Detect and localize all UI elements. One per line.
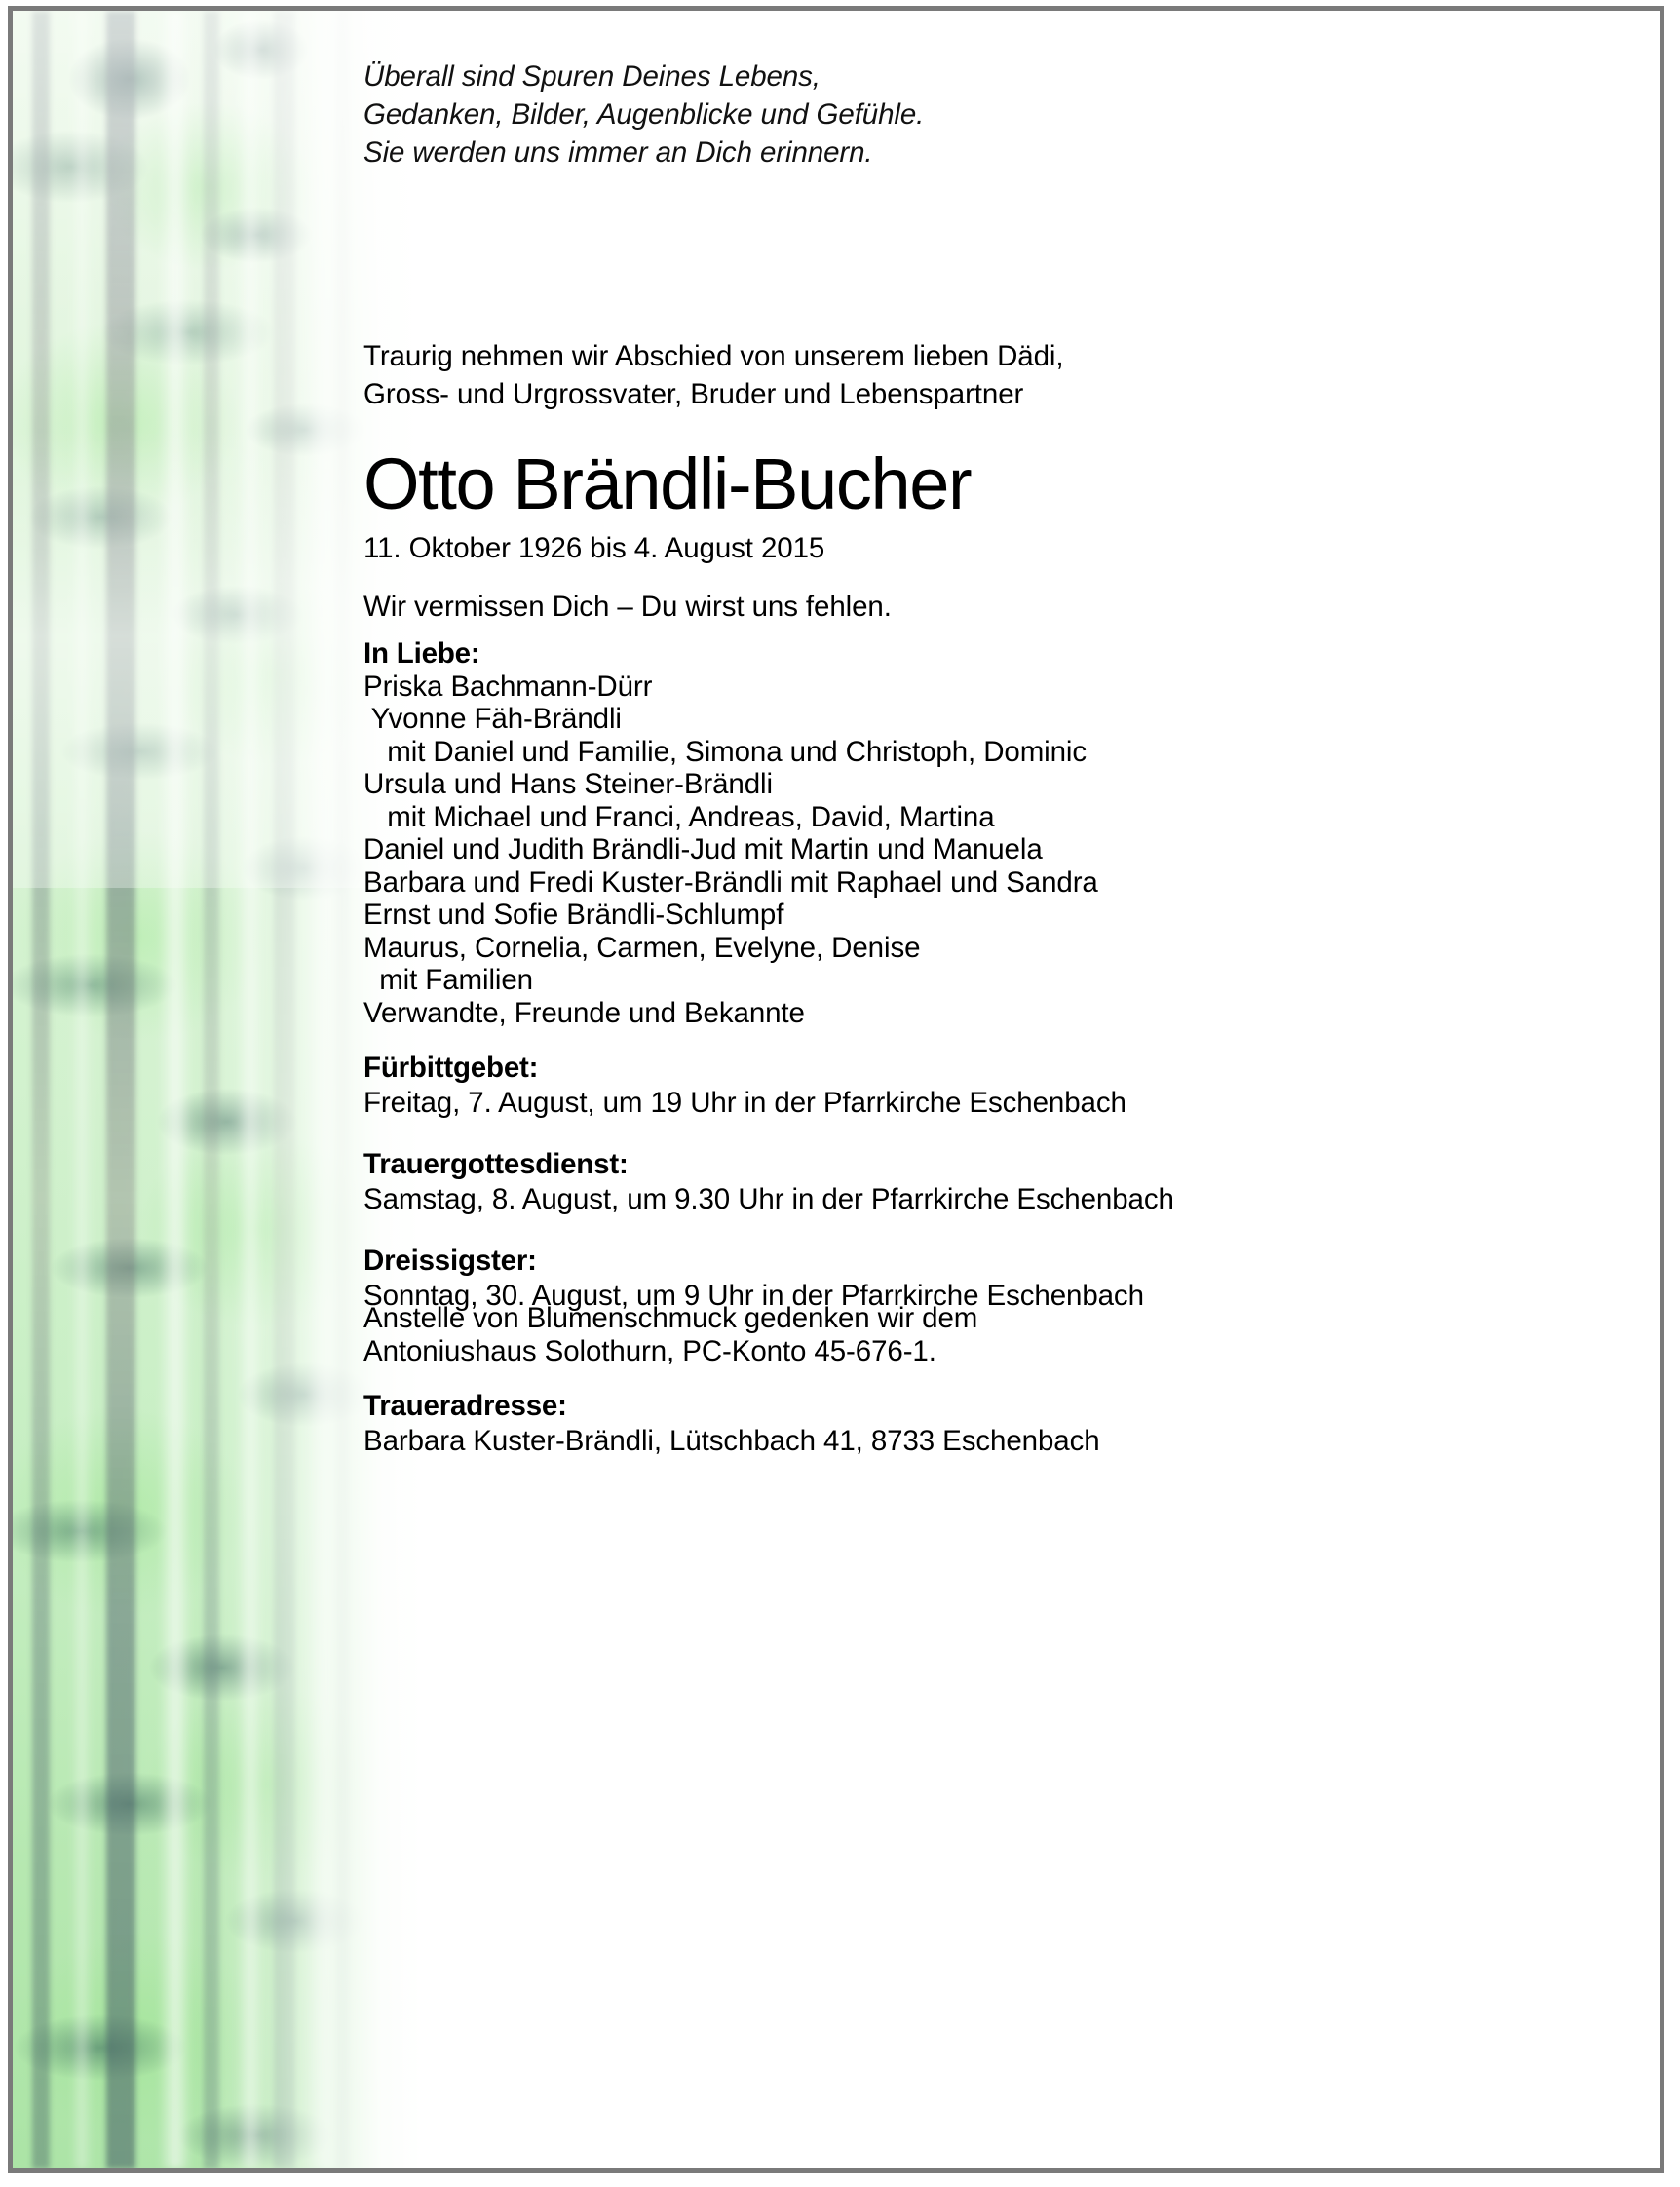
service-entry: Fürbittgebet: Freitag, 7. August, um 19 … — [363, 1052, 1174, 1119]
family-list-heading: In Liebe: — [363, 637, 1098, 671]
announcement-lead: Traurig nehmen wir Abschied von unserem … — [363, 337, 1063, 413]
family-member-line: Barbara und Fredi Kuster-Brändli mit Rap… — [363, 866, 1098, 900]
family-member-line: Ursula und Hans Steiner-Brändli — [363, 768, 1098, 801]
donation-request: Anstelle von Blumenschmuck gedenken wir … — [363, 1302, 977, 1367]
life-dates: 11. Oktober 1926 bis 4. August 2015 — [363, 529, 824, 567]
family-list: In Liebe: Priska Bachmann-Dürr Yvonne Fä… — [363, 637, 1098, 1029]
forest-photograph — [13, 11, 422, 2168]
deceased-name: Otto Brändli-Bucher — [363, 441, 971, 527]
service-title: Trauergottesdienst: — [363, 1148, 1174, 1181]
memorial-text: Überall sind Spuren Deines Lebens, Gedan… — [363, 11, 1660, 2168]
service-schedule: Fürbittgebet: Freitag, 7. August, um 19 … — [363, 1052, 1174, 1341]
family-member-line: Ernst und Sofie Brändli-Schlumpf — [363, 899, 1098, 932]
family-member-line: Maurus, Cornelia, Carmen, Evelyne, Denis… — [363, 932, 1098, 965]
photo-fade-to-white — [13, 11, 422, 2168]
family-member-line: Verwandte, Freunde und Bekannte — [363, 997, 1098, 1030]
service-title: Dreissigster: — [363, 1245, 1174, 1278]
service-entry: Trauergottesdienst: Samstag, 8. August, … — [363, 1148, 1174, 1215]
family-member-line: Yvonne Fäh-Brändli — [363, 703, 1098, 736]
family-member-line: mit Daniel und Familie, Simona und Chris… — [363, 736, 1098, 769]
epitaph-verse: Überall sind Spuren Deines Lebens, Gedan… — [363, 58, 924, 172]
farewell-line: Wir vermissen Dich – Du wirst uns fehlen… — [363, 588, 892, 626]
mourning-address-detail: Barbara Kuster-Brändli, Lütschbach 41, 8… — [363, 1425, 1100, 1458]
memorial-card: Überall sind Spuren Deines Lebens, Gedan… — [8, 6, 1664, 2173]
family-member-line: Priska Bachmann-Dürr — [363, 671, 1098, 704]
mourning-address: Traueradresse: Barbara Kuster-Brändli, L… — [363, 1390, 1100, 1457]
service-detail: Freitag, 7. August, um 19 Uhr in der Pfa… — [363, 1087, 1174, 1120]
family-member-line: mit Michael und Franci, Andreas, David, … — [363, 801, 1098, 834]
card-inner: Überall sind Spuren Deines Lebens, Gedan… — [13, 11, 1660, 2168]
mourning-address-title: Traueradresse: — [363, 1390, 1100, 1423]
family-member-line: Daniel und Judith Brändli-Jud mit Martin… — [363, 833, 1098, 866]
family-member-line: mit Familien — [363, 964, 1098, 997]
service-title: Fürbittgebet: — [363, 1052, 1174, 1085]
service-detail: Samstag, 8. August, um 9.30 Uhr in der P… — [363, 1183, 1174, 1216]
